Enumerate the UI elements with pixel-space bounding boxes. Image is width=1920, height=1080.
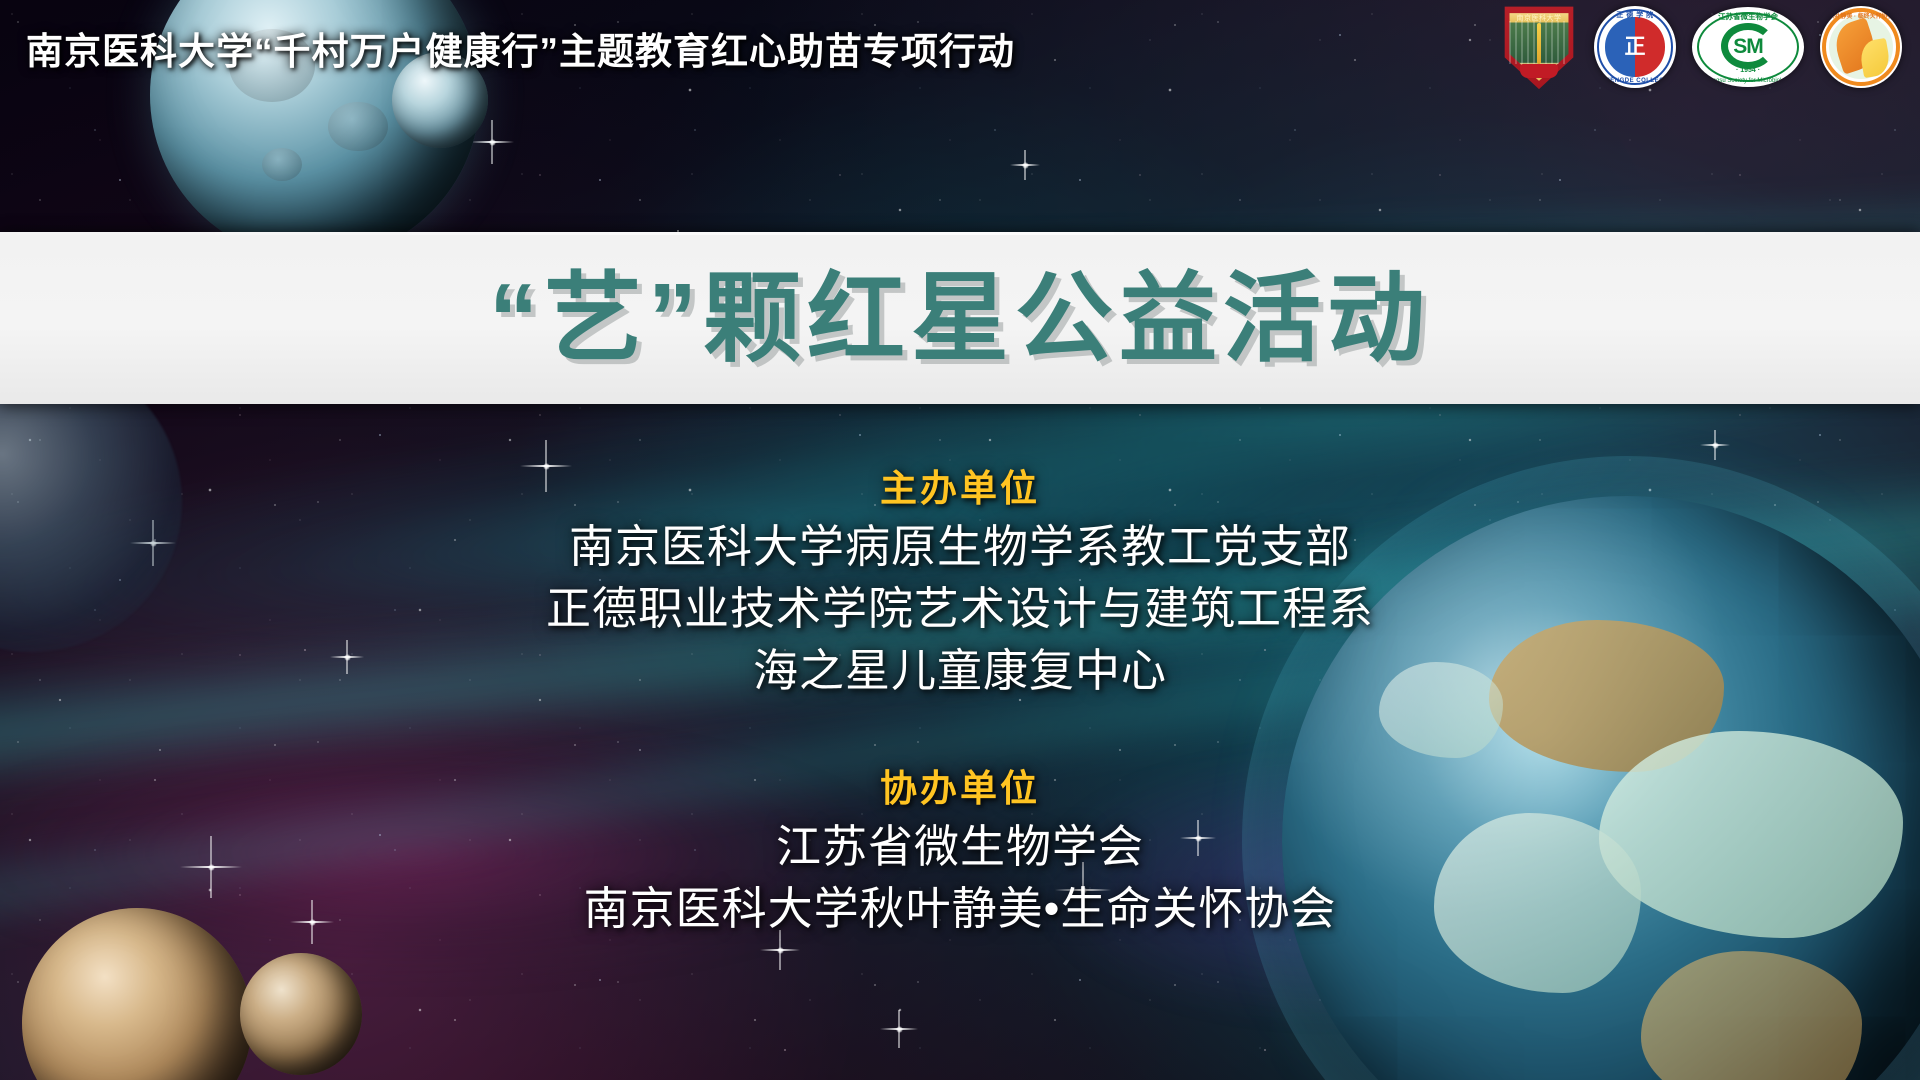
campaign-title: 南京医科大学“千村万户健康行”主题教育红心助苗专项行动 [26, 21, 1015, 75]
organizers-block: 主办单位 南京医科大学病原生物学系教工党支部 正德职业技术学院艺术设计与建筑工程… [0, 462, 1920, 940]
sponsor-logo-row: 南京医科大学 正 正 德 学 院 ZHENGDE COLLEGE SM 江苏 [1500, 4, 1902, 90]
autumn-leaf-hospice-association-logo: 秋叶静美 · 临终关怀协会 [1820, 6, 1902, 88]
main-title: “艺”颗红星公益活动 [489, 269, 1431, 367]
sm-logo-bottom-text: Jiangsu Society for Microbiology [1692, 78, 1804, 84]
planet-bottom-left-small [240, 953, 362, 1075]
title-banner: “艺”颗红星公益活动 [0, 232, 1920, 404]
poster-canvas: 南京医科大学“千村万户健康行”主题教育红心助苗专项行动 南京医科大学 正 [0, 0, 1920, 1080]
organizer-section-spacer [0, 702, 1920, 762]
sm-logo-year: · 1954 · [1692, 67, 1804, 74]
host-line: 海之星儿童康复中心 [0, 640, 1920, 702]
zhengde-college-logo: 正 正 德 学 院 ZHENGDE COLLEGE [1594, 6, 1676, 88]
coorganizer-line: 江苏省微生物学会 [0, 816, 1920, 878]
zhengde-logo-top-text: 正 德 学 院 [1594, 10, 1676, 20]
host-line: 正德职业技术学院艺术设计与建筑工程系 [0, 578, 1920, 640]
zhengde-logo-bottom-text: ZHENGDE COLLEGE [1594, 78, 1676, 84]
hospice-logo-top-text: 秋叶静美 · 临终关怀协会 [1820, 11, 1902, 20]
sm-monogram: SM [1692, 36, 1804, 57]
poster-header: 南京医科大学“千村万户健康行”主题教育红心助苗专项行动 南京医科大学 正 [0, 0, 1920, 96]
jiangsu-microbiology-society-logo: SM 江苏省微生物学会 · 1954 · Jiangsu Society for… [1692, 7, 1804, 87]
coorganizer-line: 南京医科大学秋叶静美•生命关怀协会 [0, 878, 1920, 940]
zhengde-logo-glyph: 正 [1624, 36, 1645, 57]
host-line: 南京医科大学病原生物学系教工党支部 [0, 516, 1920, 578]
sm-logo-top-text: 江苏省微生物学会 [1692, 11, 1804, 22]
nmu-logo-top-text: 南京医科大学 [1500, 13, 1578, 23]
host-heading: 主办单位 [0, 462, 1920, 516]
nanjing-medical-university-logo: 南京医科大学 [1500, 4, 1578, 90]
coorganizer-heading: 协办单位 [0, 762, 1920, 816]
